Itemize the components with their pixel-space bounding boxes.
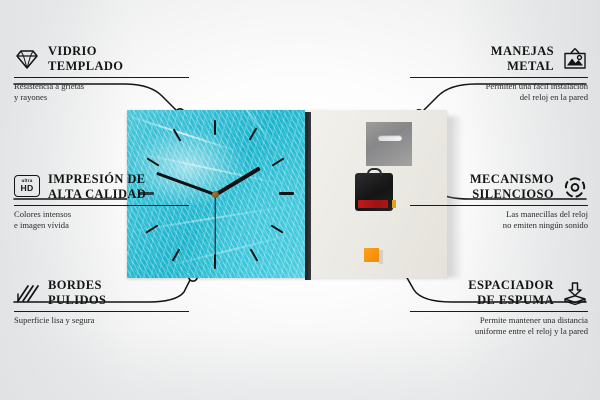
feature-divider xyxy=(410,77,588,78)
feature-title-line2: SILENCIOSO xyxy=(472,187,554,201)
feature-title-line2: PULIDOS xyxy=(48,293,106,307)
feature-title-line1: MECANISMO xyxy=(470,172,554,186)
feature-divider xyxy=(410,311,588,312)
feature-divider xyxy=(14,205,189,206)
feature-manejas-metal[interactable]: MANEJASMETAL Permiten una fácil instalac… xyxy=(410,44,588,104)
mechanism-hanging-loop xyxy=(367,168,382,175)
ultra-hd-big-text: HD xyxy=(20,184,33,193)
infographic-canvas: VIDRIOTEMPLADO Resistencia a grietas y r… xyxy=(0,0,600,400)
feature-title-line1: MANEJAS xyxy=(491,44,554,58)
feature-espaciador-espuma[interactable]: ESPACIADORDE ESPUMA Permite mantener una… xyxy=(410,278,588,338)
clock-second-hand xyxy=(214,195,215,263)
feature-desc-line1: Superficie lisa y segura xyxy=(14,315,94,325)
foam-spacer-pad xyxy=(364,248,379,262)
feature-vidrio-templado[interactable]: VIDRIOTEMPLADO Resistencia a grietas y r… xyxy=(14,44,189,104)
feature-desc-line2: del reloj en la pared xyxy=(520,92,588,102)
hanging-picture-frame-icon xyxy=(562,47,588,71)
feature-title-line1: IMPRESIÓN DE xyxy=(48,172,146,186)
feature-mecanismo-silencioso[interactable]: MECANISMOSILENCIOSO Las manecillas del r… xyxy=(410,172,588,232)
clock-center-hub xyxy=(212,191,219,198)
feature-title-line2: TEMPLADO xyxy=(48,59,123,73)
feature-desc-line1: Las manecillas del reloj xyxy=(506,209,588,219)
feature-desc-line2: uniforme entre el reloj y la pared xyxy=(475,326,588,336)
diamond-icon xyxy=(14,47,40,71)
clock-mechanism xyxy=(355,173,393,211)
feature-desc-line1: Permiten una fácil instalación xyxy=(486,81,588,91)
feature-divider xyxy=(410,205,588,206)
feature-impresion-alta-calidad[interactable]: ultra HD IMPRESIÓN DEALTA CALIDAD Colore… xyxy=(14,172,189,232)
feature-title-line1: VIDRIO xyxy=(48,44,97,58)
polished-edges-icon xyxy=(14,281,40,305)
feature-desc-line2: e imagen vívida xyxy=(14,220,69,230)
feature-desc-line1: Permite mantener una distancia xyxy=(480,315,588,325)
feature-desc-line1: Colores intensos xyxy=(14,209,71,219)
feature-title-line1: ESPACIADOR xyxy=(468,278,554,292)
feature-title-line1: BORDES xyxy=(48,278,102,292)
ultra-hd-badge-icon: ultra HD xyxy=(14,175,40,199)
feature-title-line2: ALTA CALIDAD xyxy=(48,187,146,201)
feature-divider xyxy=(14,77,189,78)
feature-title-line2: DE ESPUMA xyxy=(477,293,554,307)
battery xyxy=(358,200,388,208)
hanger-slot xyxy=(378,135,402,141)
feature-desc-line2: y rayones xyxy=(14,92,47,102)
arrow-onto-pad-icon xyxy=(562,281,588,305)
feature-desc-line1: Resistencia a grietas xyxy=(14,81,84,91)
gear-icon xyxy=(562,175,588,199)
feature-divider xyxy=(14,311,189,312)
feature-title-line2: METAL xyxy=(507,59,554,73)
battery-terminal xyxy=(392,200,396,208)
feature-desc-line2: no emiten ningún sonido xyxy=(503,220,588,230)
feature-bordes-pulidos[interactable]: BORDESPULIDOS Superficie lisa y segura xyxy=(14,278,189,326)
metal-hanger-plate xyxy=(366,122,412,166)
